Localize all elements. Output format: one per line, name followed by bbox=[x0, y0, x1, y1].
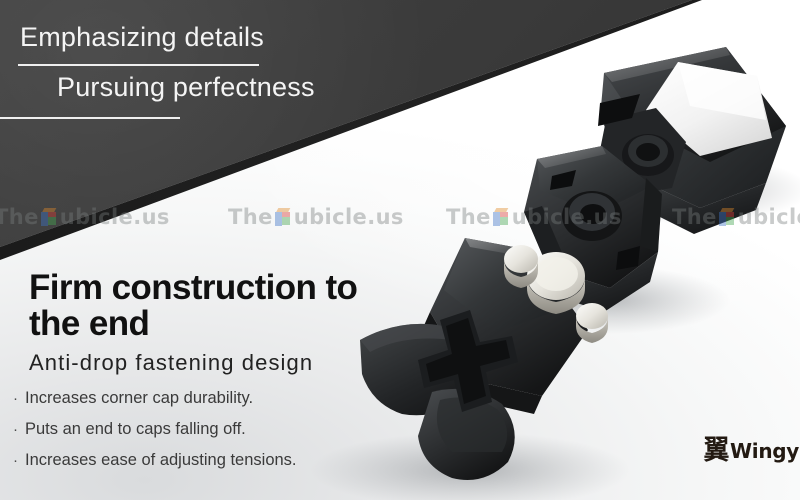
brand-logo: 翼 Wingy bbox=[703, 437, 799, 464]
bullet-dot-icon: · bbox=[13, 453, 18, 468]
promo-banner: Emphasizing details Pursuing perfectness… bbox=[0, 0, 800, 500]
header-line-1: Emphasizing details bbox=[20, 22, 264, 53]
bullet-text: Increases ease of adjusting tensions. bbox=[25, 451, 297, 470]
bullet-text: Puts an end to caps falling off. bbox=[25, 420, 246, 439]
bullet-text: Increases corner cap durability. bbox=[25, 389, 253, 408]
brand-wordmark: Wingy bbox=[730, 439, 799, 463]
headline: Firm construction to the end bbox=[29, 270, 409, 342]
list-item: · Increases corner cap durability. bbox=[13, 389, 430, 408]
list-item: · Increases ease of adjusting tensions. bbox=[13, 451, 430, 470]
magnet-small-2 bbox=[576, 303, 608, 343]
bullet-dot-icon: · bbox=[13, 391, 18, 406]
feature-bullet-list: · Increases corner cap durability. · Put… bbox=[0, 389, 430, 470]
header-line-2: Pursuing perfectness bbox=[57, 72, 315, 103]
bullet-dot-icon: · bbox=[13, 422, 18, 437]
header-rule-2 bbox=[0, 117, 180, 119]
list-item: · Puts an end to caps falling off. bbox=[13, 420, 430, 439]
magnet-small-1 bbox=[504, 245, 538, 288]
brand-mark-icon: 翼 bbox=[704, 437, 730, 464]
subheadline: Anti-drop fastening design bbox=[29, 350, 430, 376]
feature-copy-block: Firm construction to the end Anti-drop f… bbox=[0, 270, 430, 482]
header-rule-1 bbox=[18, 64, 259, 66]
